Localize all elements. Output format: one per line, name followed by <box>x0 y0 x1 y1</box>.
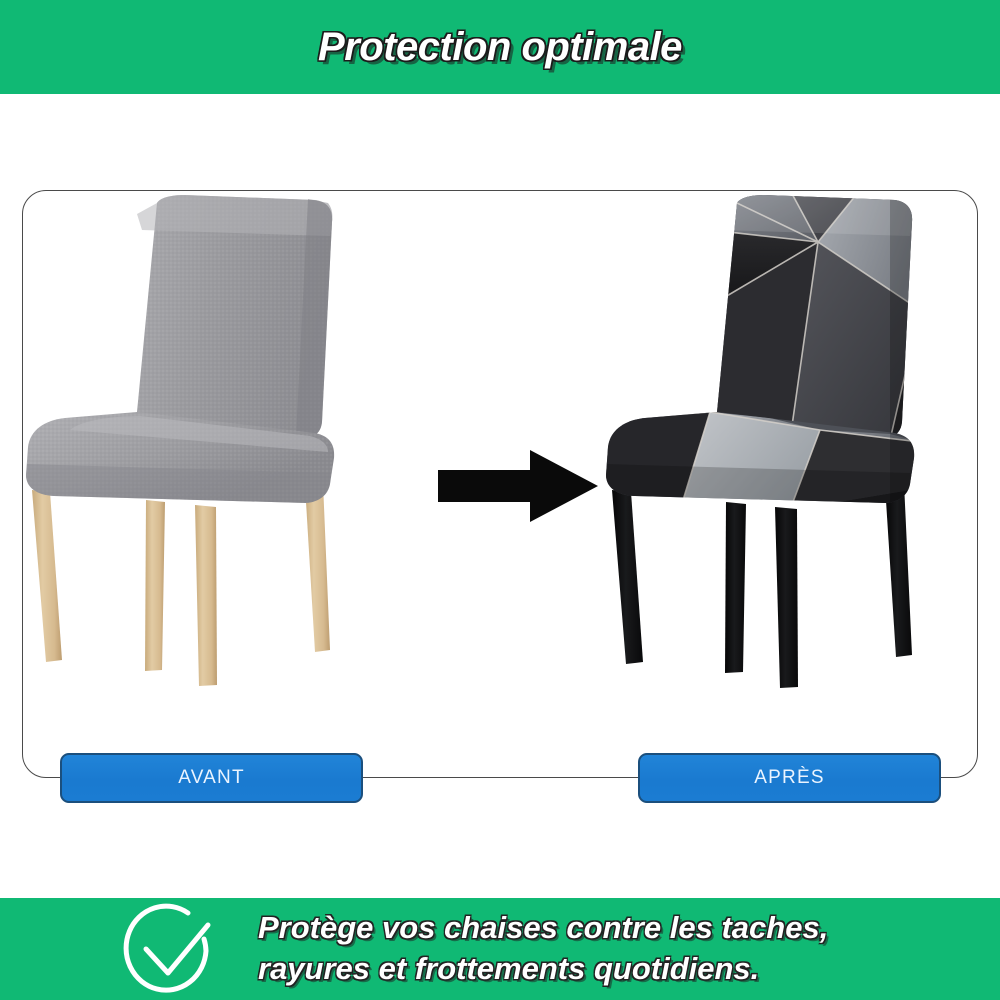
before-label-text: AVANT <box>178 767 245 789</box>
chair-leg <box>195 505 217 686</box>
top-banner: Protection optimale <box>0 0 1000 94</box>
check-circle-icon <box>118 903 220 995</box>
arrow-right-icon <box>438 448 600 524</box>
after-chair-image <box>590 190 990 778</box>
chair-leg <box>145 500 165 671</box>
chair-backrest-roll <box>137 195 332 236</box>
chair-leg <box>305 483 330 652</box>
before-chair-image <box>10 190 410 778</box>
after-label-text: APRÈS <box>754 767 824 789</box>
chair-leg <box>725 502 746 673</box>
chair-leg <box>775 507 798 688</box>
footer-text: Protège vos chaises contre les taches, r… <box>258 908 828 990</box>
footer-line-1: Protège vos chaises contre les taches, <box>258 908 828 949</box>
bottom-banner: Protège vos chaises contre les taches, r… <box>0 898 1000 1000</box>
chair-leg <box>32 490 62 662</box>
chair-cover-backrest <box>710 190 930 450</box>
chair-leg <box>612 490 643 664</box>
before-label-button[interactable]: AVANT <box>60 753 363 803</box>
after-label-button[interactable]: APRÈS <box>638 753 941 803</box>
footer-line-2: rayures et frottements quotidiens. <box>258 949 828 990</box>
page-title: Protection optimale <box>318 25 682 70</box>
chair-leg <box>885 483 912 657</box>
